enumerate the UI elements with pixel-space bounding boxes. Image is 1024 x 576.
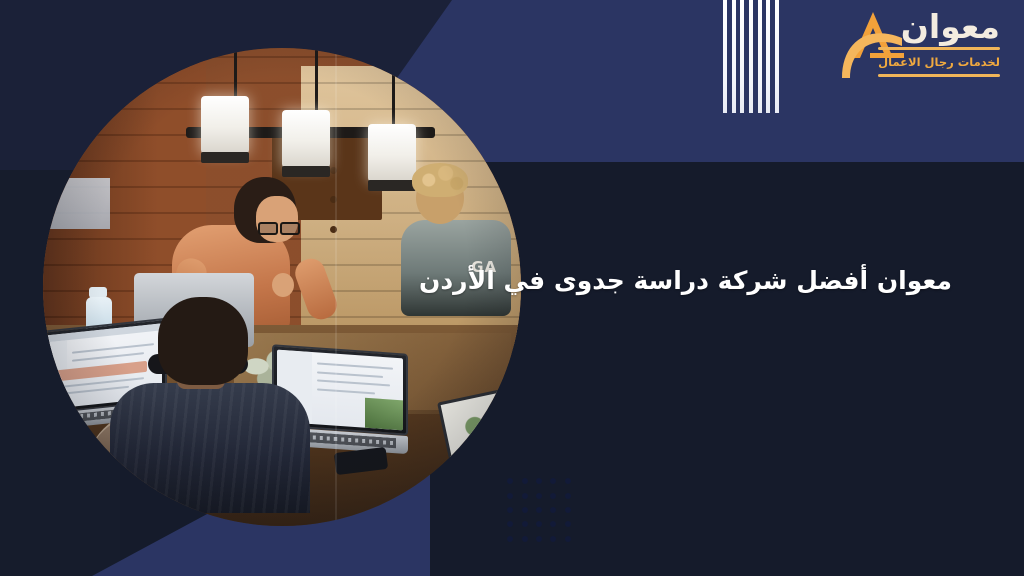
grid-dot bbox=[550, 521, 556, 527]
page-title: معوان أفضل شركة دراسة جدوى في الأردن bbox=[419, 264, 952, 298]
stripe bbox=[775, 0, 779, 113]
lamp-cap bbox=[201, 152, 249, 163]
grid-dot bbox=[550, 478, 556, 484]
eyeglasses-icon bbox=[280, 222, 300, 235]
grid-dot bbox=[536, 507, 542, 513]
logo-brand-name: معوان bbox=[878, 10, 1000, 43]
screen-text-line bbox=[318, 389, 376, 395]
grid-dot bbox=[565, 478, 571, 484]
shirt-stripe-texture bbox=[110, 383, 310, 513]
grid-dot bbox=[565, 536, 571, 542]
screen-image bbox=[366, 398, 404, 431]
stripe bbox=[732, 0, 736, 113]
pendant-lamp bbox=[368, 124, 416, 182]
brand-logo[interactable]: معوان لخدمات رجال الاعمال bbox=[836, 6, 1000, 98]
grid-dot bbox=[507, 493, 513, 499]
grid-dot bbox=[522, 507, 528, 513]
grid-dot bbox=[565, 521, 571, 527]
vertical-stripes-decoration bbox=[723, 0, 779, 113]
grid-dot bbox=[522, 536, 528, 542]
grid-dot bbox=[507, 521, 513, 527]
window bbox=[48, 178, 110, 228]
logo-text-block: معوان لخدمات رجال الاعمال bbox=[878, 10, 1000, 77]
logo-tagline: لخدمات رجال الاعمال bbox=[878, 57, 1000, 69]
dot-grid-decoration bbox=[503, 474, 575, 546]
grid-dot bbox=[522, 478, 528, 484]
screen-text-line bbox=[318, 380, 391, 387]
grid-dot bbox=[550, 536, 556, 542]
curly-hair bbox=[412, 163, 468, 197]
grid-dot bbox=[565, 507, 571, 513]
stripe bbox=[749, 0, 753, 113]
stripe bbox=[740, 0, 744, 113]
logo-divider-top bbox=[878, 47, 1000, 50]
lamp-cap bbox=[282, 166, 330, 177]
stripe bbox=[723, 0, 727, 113]
promotional-banner: GA bbox=[0, 0, 1024, 576]
grid-dot bbox=[536, 493, 542, 499]
pendant-rod bbox=[392, 48, 395, 129]
photo-split-seam bbox=[335, 48, 337, 526]
face bbox=[256, 196, 298, 242]
grid-dot bbox=[536, 478, 542, 484]
person-dark-shirt-head bbox=[158, 297, 248, 385]
grid-dot bbox=[536, 521, 542, 527]
stripe bbox=[758, 0, 762, 113]
tablet-screen-graphic bbox=[461, 411, 490, 441]
screen-text-line bbox=[318, 371, 384, 378]
grid-dot bbox=[550, 507, 556, 513]
grid-dot bbox=[507, 478, 513, 484]
grid-dot bbox=[522, 493, 528, 499]
stripe bbox=[766, 0, 770, 113]
grid-dot bbox=[522, 521, 528, 527]
grid-dot bbox=[507, 507, 513, 513]
lamp-cap bbox=[368, 180, 416, 191]
eyeglasses-icon bbox=[258, 222, 278, 235]
pendant-lamp bbox=[282, 110, 330, 168]
grid-dot bbox=[565, 493, 571, 499]
grid-dot bbox=[536, 536, 542, 542]
hand bbox=[272, 273, 294, 297]
screen-text-line bbox=[318, 363, 394, 370]
grid-dot bbox=[550, 493, 556, 499]
screen-text-line bbox=[72, 352, 144, 362]
grid-dot bbox=[507, 536, 513, 542]
pendant-lamp bbox=[201, 96, 249, 154]
logo-divider-bottom bbox=[878, 74, 1000, 77]
